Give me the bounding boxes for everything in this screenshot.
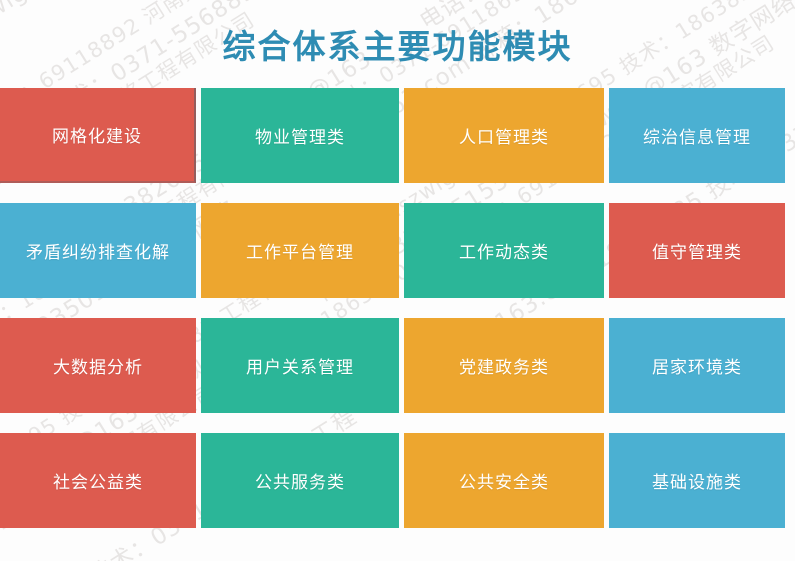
module-card-label: 用户关系管理 <box>240 353 360 378</box>
module-card-社会公益类[interactable]: 社会公益类 <box>0 433 196 528</box>
module-card-用户关系管理[interactable]: 用户关系管理 <box>201 318 399 413</box>
module-grid: 网格化建设物业管理类人口管理类综治信息管理矛盾纠纷排查化解工作平台管理工作动态类… <box>0 88 795 528</box>
module-row: 网格化建设物业管理类人口管理类综治信息管理 <box>0 88 795 183</box>
module-card-label: 公共安全类 <box>453 468 555 493</box>
module-card-label: 矛盾纠纷排查化解 <box>20 238 176 263</box>
module-card-label: 社会公益类 <box>47 468 149 493</box>
module-card-label: 居家环境类 <box>646 353 748 378</box>
module-row: 社会公益类公共服务类公共安全类基础设施类 <box>0 433 795 528</box>
module-card-值守管理类[interactable]: 值守管理类 <box>609 203 785 298</box>
module-row: 矛盾纠纷排查化解工作平台管理工作动态类值守管理类 <box>0 203 795 298</box>
module-card-居家环境类[interactable]: 居家环境类 <box>609 318 785 413</box>
module-card-大数据分析[interactable]: 大数据分析 <box>0 318 196 413</box>
row-gap <box>0 298 795 318</box>
row-trailing-space <box>785 318 795 413</box>
row-trailing-space <box>785 203 795 298</box>
module-card-网格化建设[interactable]: 网格化建设 <box>0 88 196 183</box>
module-card-物业管理类[interactable]: 物业管理类 <box>201 88 399 183</box>
module-card-综治信息管理[interactable]: 综治信息管理 <box>609 88 785 183</box>
module-card-label: 值守管理类 <box>646 238 748 263</box>
page-title: 综合体系主要功能模块 <box>0 26 795 67</box>
module-card-label: 工作平台管理 <box>240 238 360 263</box>
module-card-label: 网格化建设 <box>46 122 148 147</box>
module-card-矛盾纠纷排查化解[interactable]: 矛盾纠纷排查化解 <box>0 203 196 298</box>
row-trailing-space <box>785 88 795 183</box>
infographic-canvas: szwlgc@163.com 18638203501 河南 数字网络工程有限公司… <box>0 0 795 561</box>
module-row: 大数据分析用户关系管理党建政务类居家环境类 <box>0 318 795 413</box>
row-trailing-space <box>785 433 795 528</box>
module-card-公共服务类[interactable]: 公共服务类 <box>201 433 399 528</box>
module-card-label: 基础设施类 <box>646 468 748 493</box>
module-card-label: 工作动态类 <box>453 238 555 263</box>
module-card-工作平台管理[interactable]: 工作平台管理 <box>201 203 399 298</box>
row-gap <box>0 183 795 203</box>
module-card-党建政务类[interactable]: 党建政务类 <box>404 318 604 413</box>
row-gap <box>0 413 795 433</box>
module-card-label: 人口管理类 <box>453 123 555 148</box>
module-card-工作动态类[interactable]: 工作动态类 <box>404 203 604 298</box>
module-card-人口管理类[interactable]: 人口管理类 <box>404 88 604 183</box>
watermark-line: 网址：0371-69118695 技术：18638203501 工程有限公司网址… <box>0 0 795 21</box>
module-card-label: 公共服务类 <box>249 468 351 493</box>
module-card-基础设施类[interactable]: 基础设施类 <box>609 433 785 528</box>
module-card-label: 党建政务类 <box>453 353 555 378</box>
module-card-公共安全类[interactable]: 公共安全类 <box>404 433 604 528</box>
module-card-label: 大数据分析 <box>47 353 149 378</box>
module-card-label: 物业管理类 <box>249 123 351 148</box>
module-card-label: 综治信息管理 <box>637 123 757 148</box>
